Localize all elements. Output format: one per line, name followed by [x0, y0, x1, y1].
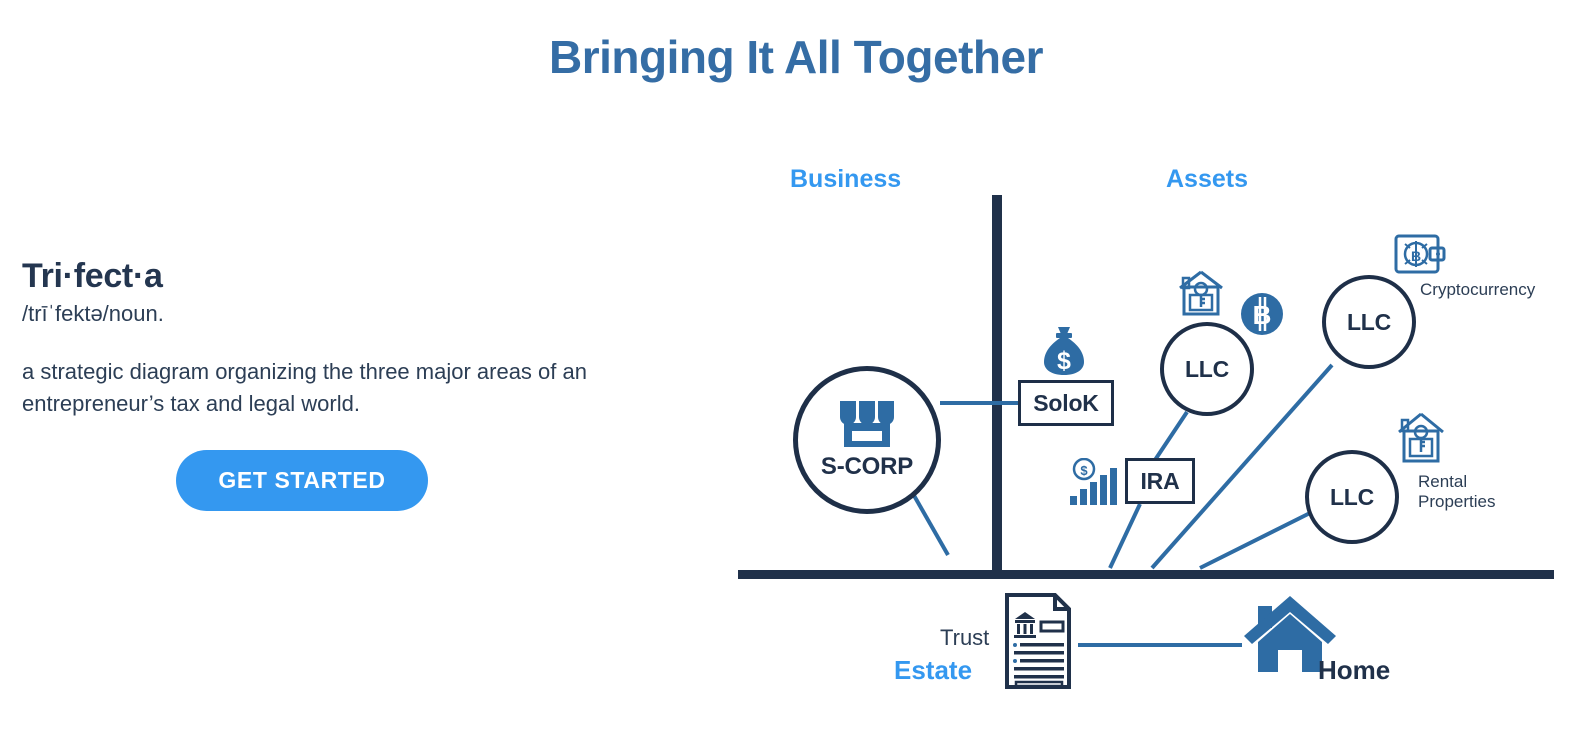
connector-ira-baseline	[1110, 504, 1140, 568]
trifecta-infographic: Bringing It All Together Tri·fect·a /trī…	[0, 0, 1592, 756]
estate-zone-label: Estate	[894, 655, 972, 686]
asset-label-cryptocurrency: Cryptocurrency	[1420, 280, 1535, 300]
house-key-icon	[1176, 268, 1226, 318]
horizontal-baseline	[738, 570, 1554, 579]
definition-meaning: a strategic diagram organizing the three…	[22, 356, 622, 420]
crypto-wallet-icon: B	[1394, 232, 1446, 278]
trifecta-diagram: Business Assets S-CORP $	[700, 140, 1592, 730]
storefront-icon	[836, 399, 898, 449]
bitcoin-glyph: B	[1253, 300, 1272, 330]
node-solok[interactable]: SoloK	[1018, 380, 1114, 426]
node-llc-rental[interactable]: LLC	[1305, 450, 1399, 544]
node-llc-crypto[interactable]: LLC	[1322, 275, 1416, 369]
definition-panel: Tri·fect·a /trīˈfektə/noun. a strategic …	[22, 258, 642, 511]
node-scorp[interactable]: S-CORP	[793, 366, 941, 514]
svg-text:$: $	[1080, 463, 1088, 478]
node-llc-rental-label: LLC	[1330, 484, 1374, 511]
bar-chart-dollar-icon: $	[1068, 458, 1120, 506]
house-key-rental-icon	[1396, 408, 1446, 466]
vertical-divider	[992, 195, 1002, 577]
definition-word: Tri·fect·a	[22, 258, 642, 295]
node-llc-inner-label: LLC	[1185, 356, 1229, 383]
node-scorp-label: S-CORP	[821, 453, 913, 481]
asset-label-rental-properties: Rental Properties	[1418, 472, 1495, 512]
connector-llc-rental-baseline	[1200, 512, 1312, 568]
estate-home-label: Home	[1318, 655, 1390, 686]
money-bag-icon: $	[1036, 323, 1092, 379]
get-started-button[interactable]: GET STARTED	[176, 450, 427, 511]
zone-label-business: Business	[790, 165, 901, 194]
definition-pronunciation: /trīˈfektə/noun.	[22, 301, 642, 327]
connector-llc-ira	[1155, 412, 1187, 460]
node-llc-inner[interactable]: LLC	[1160, 322, 1254, 416]
cta-container: GET STARTED	[22, 450, 582, 511]
node-ira[interactable]: IRA	[1125, 458, 1195, 504]
node-llc-crypto-label: LLC	[1347, 309, 1391, 336]
page-title: Bringing It All Together	[0, 30, 1592, 84]
estate-trust-label: Trust	[940, 625, 989, 651]
legal-document-icon	[1003, 592, 1073, 690]
bitcoin-badge-icon: B	[1240, 292, 1284, 336]
svg-text:$: $	[1057, 347, 1071, 375]
zone-label-assets: Assets	[1166, 165, 1248, 194]
